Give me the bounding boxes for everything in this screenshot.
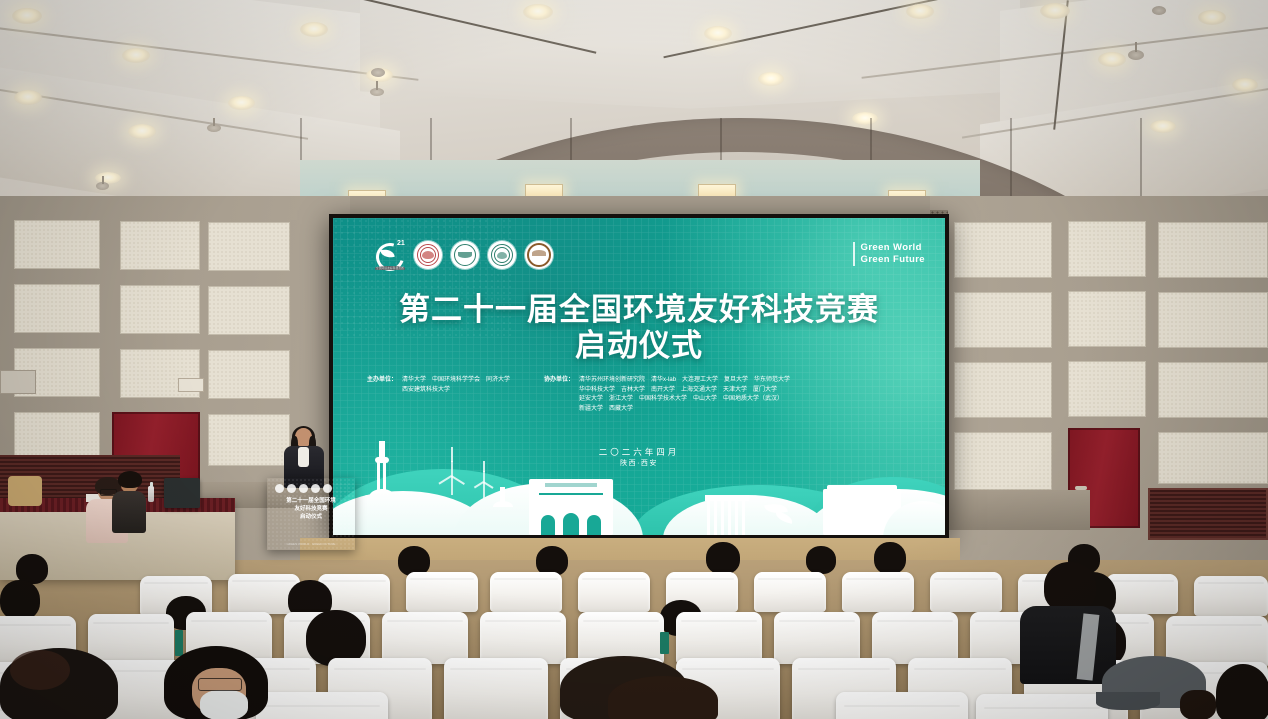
competition-logo-icon: 21 全国环境友好科技竞赛 [375,240,405,270]
partner-logo-4-icon [525,241,553,269]
audience-seat[interactable] [836,692,968,719]
wall-sensor [178,378,204,392]
attendee-head [874,542,906,574]
coorganizers-label: 协办单位： [544,376,574,414]
glasses-icon [198,678,242,691]
led-stage-screen: 21 全国环境友好科技竞赛 [329,214,949,539]
organizer-line: 清华大学 中国环境科学学会 同济大学 [402,376,510,386]
ceiling-downlight [228,96,255,110]
acoustic-panel [1158,292,1268,348]
organizer-line: 西安建筑科技大学 [402,386,510,396]
screen-title-line-1: 第二十一届全国环境友好科技竞赛 [333,292,945,328]
attendee-head [706,542,740,574]
coorganizers-list: 清华苏州环境创新研究院 清华x-lab 大连理工大学 复旦大学 华东师范大学 华… [579,376,790,414]
wind-turbine-icon [437,453,467,493]
attendee-head [0,580,40,620]
acoustic-panel [208,350,290,399]
podium-logo-icon [311,484,320,493]
acoustic-panel [954,292,1052,348]
ceiling-downlight [1040,3,1070,19]
ceiling-downlight [704,26,732,41]
chair-back [8,476,42,506]
podium-logo-icon [299,484,308,493]
ceiling-downlight [128,124,156,139]
ceiling-downlight [906,4,934,19]
tagline-line-2: Green Future [861,254,925,266]
acoustic-panel [208,222,290,271]
organizers-list: 清华大学 中国环境科学学会 同济大学 西安建筑科技大学 [402,376,510,414]
acoustic-panel [14,284,100,333]
acoustic-panel [954,362,1052,418]
podium-logo-icon [275,484,284,493]
podium-title-line-3: 启动仪式 [271,513,351,521]
acoustic-panel [1068,361,1146,417]
acoustic-panel [1068,291,1146,347]
acoustic-panel [1158,362,1268,418]
audience-seat[interactable] [976,694,1108,719]
coorganizer-line: 延安大学 浙江大学 中国科学技术大学 中山大学 中国地质大学（武汉） [579,395,790,405]
acoustic-panel [208,286,290,335]
ceiling-downlight [523,4,553,20]
attendee-head-front [0,648,120,719]
ceiling-downlight [12,8,42,24]
attendee-with-cap [1096,656,1216,719]
tagline-line-1: Green World [861,242,925,254]
acoustic-panel [120,285,200,334]
organizers-group: 主办单位： 清华大学 中国环境科学学会 同济大学 西安建筑科技大学 [367,376,510,414]
coorganizer-line: 新疆大学 西藏大学 [579,405,790,415]
acoustic-panel [14,220,100,269]
acoustic-panel [1158,432,1268,484]
podium-title-line-1: 第二十一届全国环境 [271,497,351,505]
podium-title-line-2: 友好科技竞赛 [271,505,351,513]
organizers-label: 主办单位： [367,376,397,414]
wall-projector-box [0,370,36,394]
ceiling-speaker-icon [371,68,385,77]
acoustic-panel [954,222,1052,278]
attendee-head-front [1216,664,1268,719]
attendee-masked [164,646,270,719]
coorganizer-line: 华中科技大学 吉林大学 南开大学 上海交通大学 天津大学 厦门大学 [579,386,790,396]
partner-logo-2-icon [451,241,479,269]
attendee-head [806,546,836,574]
ceiling-downlight [300,22,328,37]
acoustic-panel [208,414,290,466]
screen-logo-row: 21 全国环境友好科技竞赛 [375,240,553,270]
water-bottle [148,486,154,502]
face-mask [200,690,248,719]
skyline-illustration [333,439,945,535]
photo-scene: 21 全国环境友好科技竞赛 [0,0,1268,719]
audience-seat[interactable] [256,692,388,719]
partner-logo-1-icon [414,241,442,269]
staff-person [112,474,146,532]
acoustic-panel [954,432,1052,490]
ceiling-speaker-icon [1152,6,1166,15]
screen-organizer-block: 主办单位： 清华大学 中国环境科学学会 同济大学 西安建筑科技大学 协办单位： … [367,376,923,414]
cap-brim-icon [1096,692,1160,710]
podium-logo-row [275,484,332,493]
acoustic-panel [1068,221,1146,277]
partner-logo-3-icon [488,241,516,269]
logo-badge-number: 21 [397,240,405,247]
coorganizers-group: 协办单位： 清华苏州环境创新研究院 清华x-lab 大连理工大学 复旦大学 华东… [544,376,790,414]
podium-title: 第二十一届全国环境 友好科技竞赛 启动仪式 [271,497,351,521]
attendee-long-hair [608,676,720,719]
desk-monitor [164,478,200,508]
screen-tagline: Green World Green Future [853,242,925,266]
screen-title-line-2: 启动仪式 [333,328,945,365]
ceiling-downlight [122,48,150,63]
ceiling-downlight [14,90,42,105]
podium-logo-icon [323,484,332,493]
coorganizer-line: 清华苏州环境创新研究院 清华x-lab 大连理工大学 复旦大学 华东师范大学 [579,376,790,386]
ceiling-downlight [758,72,784,86]
screen-title: 第二十一届全国环境友好科技竞赛 启动仪式 [333,292,945,365]
lattice-screen [1148,488,1268,540]
acoustic-panel [120,221,200,270]
logo-caption: 全国环境友好科技竞赛 [375,266,405,270]
ceiling-downlight [1098,52,1126,67]
ceiling-downlight [1198,10,1226,25]
podium-logo-icon [287,484,296,493]
ceiling-downlight [1232,78,1258,92]
acoustic-panel [1158,222,1268,278]
